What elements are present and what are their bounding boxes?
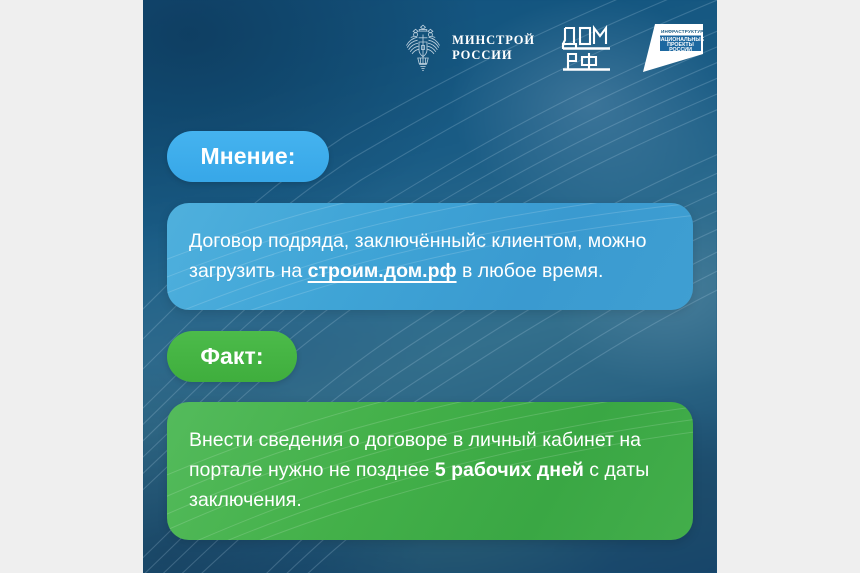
fact-card: Внести сведения о договоре в личный каби… xyxy=(167,402,693,540)
fact-card-text: Внести сведения о договоре в личный каби… xyxy=(189,426,671,515)
svg-text:РОССИИ: РОССИИ xyxy=(669,47,692,53)
svg-text:ИНФРАСТРУКТУРА: ИНФРАСТРУКТУРА xyxy=(661,29,705,34)
logo-header: МИНСТРОЙ РОССИИ xyxy=(143,0,717,96)
opinion-badge-label: Мнение: xyxy=(200,143,295,170)
national-projects-flag-logo-icon: ИНФРАСТРУКТУРА НАЦИОНАЛЬНЫЕ ПРОЕКТЫ РОСС… xyxy=(639,20,705,76)
logo-minstroy-rossii: МИНСТРОЙ РОССИИ xyxy=(403,22,535,74)
dom-rf-logo-icon xyxy=(561,24,613,72)
opinion-text-after: в любое время. xyxy=(457,260,604,282)
fact-badge: Факт: xyxy=(167,331,297,382)
screenshot-frame: МИНСТРОЙ РОССИИ xyxy=(0,0,860,573)
double-headed-eagle-emblem-icon xyxy=(403,22,443,74)
infographic-poster: МИНСТРОЙ РОССИИ xyxy=(143,0,717,573)
fact-badge-label: Факт: xyxy=(200,343,263,370)
opinion-card-text: Договор подряда, заключённыйс клиентом, … xyxy=(189,227,671,287)
stroim-dom-rf-link[interactable]: строим.дом.рф xyxy=(308,260,457,282)
fact-emphasis: 5 рабочих дней xyxy=(435,459,584,481)
opinion-card: Договор подряда, заключённыйс клиентом, … xyxy=(167,203,693,310)
minstroy-label: МИНСТРОЙ РОССИИ xyxy=(452,33,535,64)
opinion-badge: Мнение: xyxy=(167,131,329,182)
